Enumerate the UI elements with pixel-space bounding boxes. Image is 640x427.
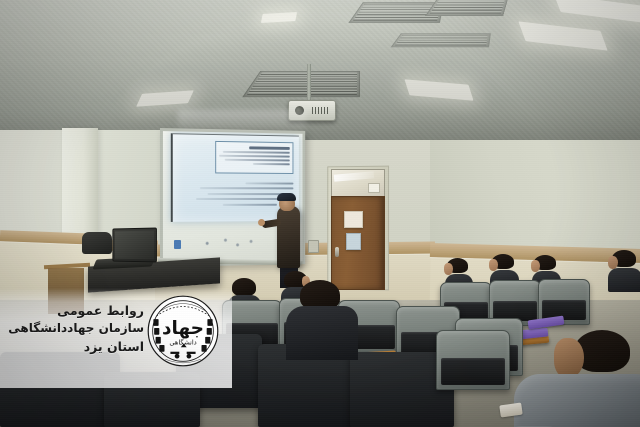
slide-body-text xyxy=(183,178,294,205)
slide-text-line xyxy=(223,150,290,153)
projector-lens-icon xyxy=(295,106,304,115)
door-transom-window xyxy=(331,169,385,197)
slide-heading-box xyxy=(215,141,293,174)
board-marker-writing xyxy=(198,234,273,255)
whiteboard-magnet xyxy=(174,240,181,249)
face xyxy=(444,263,453,275)
torso xyxy=(514,374,640,427)
laptop-screen xyxy=(115,231,154,260)
torso xyxy=(286,306,358,360)
door-notice-paper xyxy=(346,233,361,250)
seminar-room-photo: روابط عمومی سازمان جهاددانشگاهی استان یز… xyxy=(0,0,640,427)
ceiling-mounted-projector xyxy=(288,100,336,121)
projector-vent-icon xyxy=(312,107,330,114)
auditorium-seat[interactable] xyxy=(104,372,200,427)
window-glare xyxy=(334,171,374,181)
presenter-hand xyxy=(258,219,265,226)
slide-heading-line xyxy=(249,146,290,149)
door-handle[interactable] xyxy=(335,247,339,257)
laptop xyxy=(112,227,157,262)
presenter-cap xyxy=(277,193,296,201)
classroom-door[interactable] xyxy=(331,196,385,290)
wall-power-socket xyxy=(308,240,319,253)
slide-text-line xyxy=(225,158,290,161)
head xyxy=(232,278,256,296)
door-notice-paper xyxy=(344,211,363,228)
slide-text-line xyxy=(200,187,294,189)
slide-text-line xyxy=(223,203,277,205)
face xyxy=(554,338,584,378)
chair-back xyxy=(82,232,112,254)
slide-text-line xyxy=(245,182,293,184)
seat-panel xyxy=(441,358,504,385)
equipment-rack xyxy=(48,268,84,314)
slide-text-line xyxy=(219,154,290,157)
auditorium-seat[interactable] xyxy=(436,330,510,390)
face xyxy=(531,260,540,272)
presenter-torso xyxy=(277,206,300,268)
slide-text-line xyxy=(253,162,290,164)
auditorium-seat[interactable] xyxy=(0,352,120,427)
transom-notice-paper xyxy=(368,183,380,193)
seat-backrest xyxy=(436,330,510,390)
torso xyxy=(608,268,640,292)
face xyxy=(489,259,498,271)
